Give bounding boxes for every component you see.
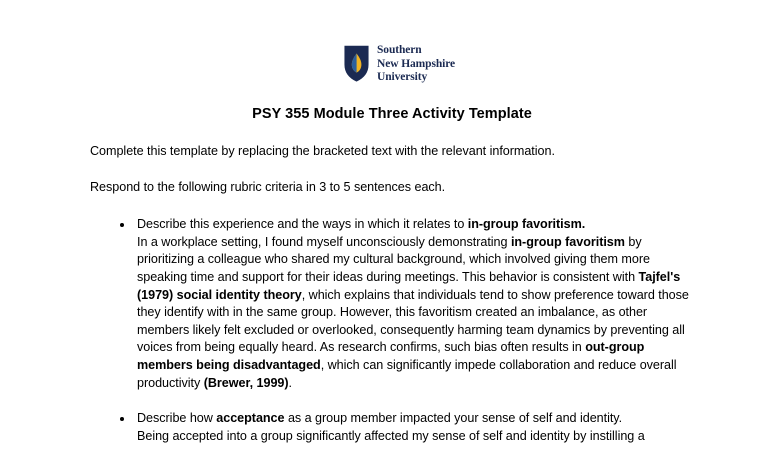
wordmark-line-2: New Hampshire [377,58,455,72]
criterion-prompt-pre: Describe how [137,411,216,425]
criterion-prompt-emphasis: acceptance [216,411,284,425]
document-page: Southern New Hampshire University PSY 35… [0,0,784,441]
intro-paragraph-1: Complete this template by replacing the … [90,143,694,161]
criterion-prompt-emphasis: in-group favoritism. [468,217,585,231]
wordmark-line-3: University [377,71,455,85]
list-item: Describe how acceptance as a group membe… [90,410,694,445]
document-body: Complete this template by replacing the … [90,143,694,463]
rubric-criteria-list: Describe this experience and the ways in… [90,216,694,445]
snhu-shield-flame-icon [343,44,370,83]
snhu-logo: Southern New Hampshire University [343,43,455,85]
text-run: . [289,376,292,390]
snhu-wordmark: Southern New Hampshire University [377,43,455,85]
criterion-response: In a workplace setting, I found myself u… [137,234,694,392]
list-item: Describe this experience and the ways in… [90,216,694,392]
text-run: In a workplace setting, I found myself u… [137,235,511,249]
criterion-prompt: Describe this experience and the ways in… [137,216,694,234]
emphasis-run: in-group favoritism [511,235,625,249]
emphasis-run: (Brewer, 1999) [204,376,289,390]
criterion-prompt-pre: Describe this experience and the ways in… [137,217,468,231]
wordmark-line-1: Southern [377,44,455,58]
criterion-prompt: Describe how acceptance as a group membe… [137,410,694,428]
page-title: PSY 355 Module Three Activity Template [0,106,784,122]
criterion-prompt-post: as a group member impacted your sense of… [285,411,623,425]
intro-paragraph-2: Respond to the following rubric criteria… [90,179,694,197]
criterion-response: Being accepted into a group significantl… [137,428,694,446]
